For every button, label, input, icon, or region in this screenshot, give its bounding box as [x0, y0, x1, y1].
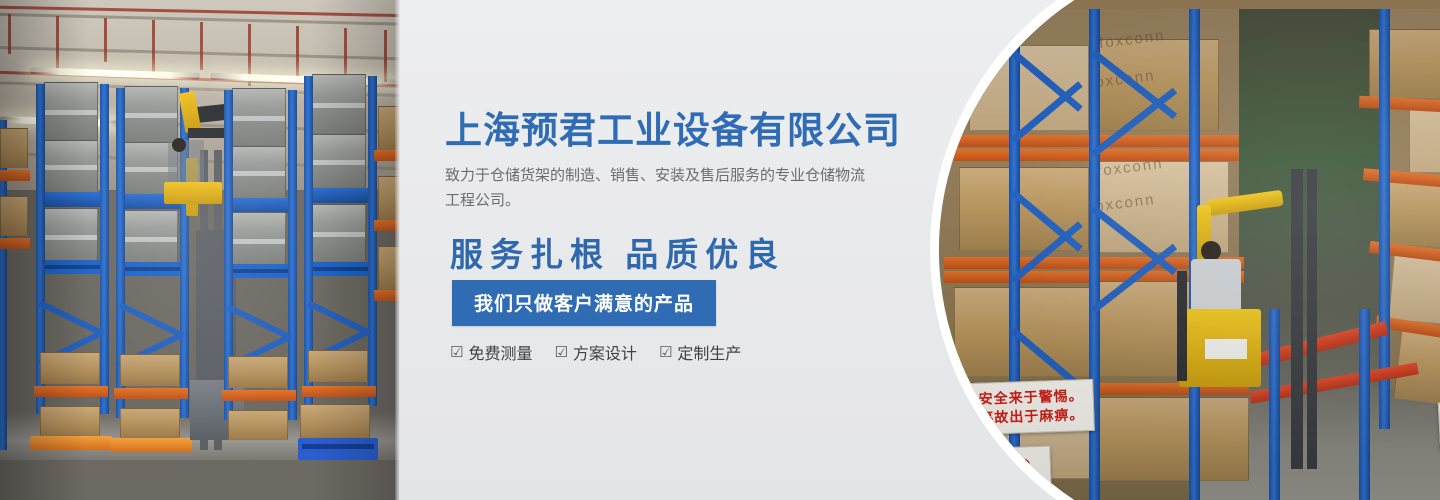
feature-label: 免费测量: [468, 340, 532, 364]
checkbox-checked-icon: ☑: [659, 345, 672, 360]
warehouse-photo-right-frame: foxconn foxconn foxconn foxconn: [930, 0, 1440, 500]
feature-label: 方案设计: [573, 340, 637, 364]
checkbox-checked-icon: ☑: [450, 345, 463, 360]
warehouse-photo-right: foxconn foxconn foxconn foxconn: [939, 0, 1440, 500]
hero-banner: D-07 D-06: [0, 0, 1440, 500]
banner-content: 上海预君工业设备有限公司 致力于仓储货架的制造、销售、安装及售后服务的专业仓储物…: [445, 0, 915, 500]
checkbox-checked-icon: ☑: [554, 345, 567, 360]
company-subtitle: 致力于仓储货架的制造、销售、安装及售后服务的专业仓储物流工程公司。: [445, 163, 865, 213]
list-item: ☑ 方案设计: [554, 340, 636, 364]
feature-label: 定制生产: [677, 340, 741, 364]
aisle-marker-sign: Y3: [968, 446, 1052, 499]
feature-list: ☑ 免费测量 ☑ 方案设计 ☑ 定制生产: [450, 340, 741, 364]
list-item: ☑ 定制生产: [659, 340, 741, 364]
list-item: ☑ 免费测量: [450, 340, 532, 364]
warehouse-photo-left: D-07 D-06: [0, 0, 400, 500]
slogan: 服务扎根 品质优良: [450, 228, 785, 276]
page-title: 上海预君工业设备有限公司: [445, 100, 901, 154]
safety-sign-line-2: 事故出于麻痹。: [979, 405, 1085, 428]
safety-sign: 安全来于警惕。 事故出于麻痹。: [968, 379, 1095, 435]
cta-button[interactable]: 我们只做客户满意的产品: [452, 280, 716, 326]
